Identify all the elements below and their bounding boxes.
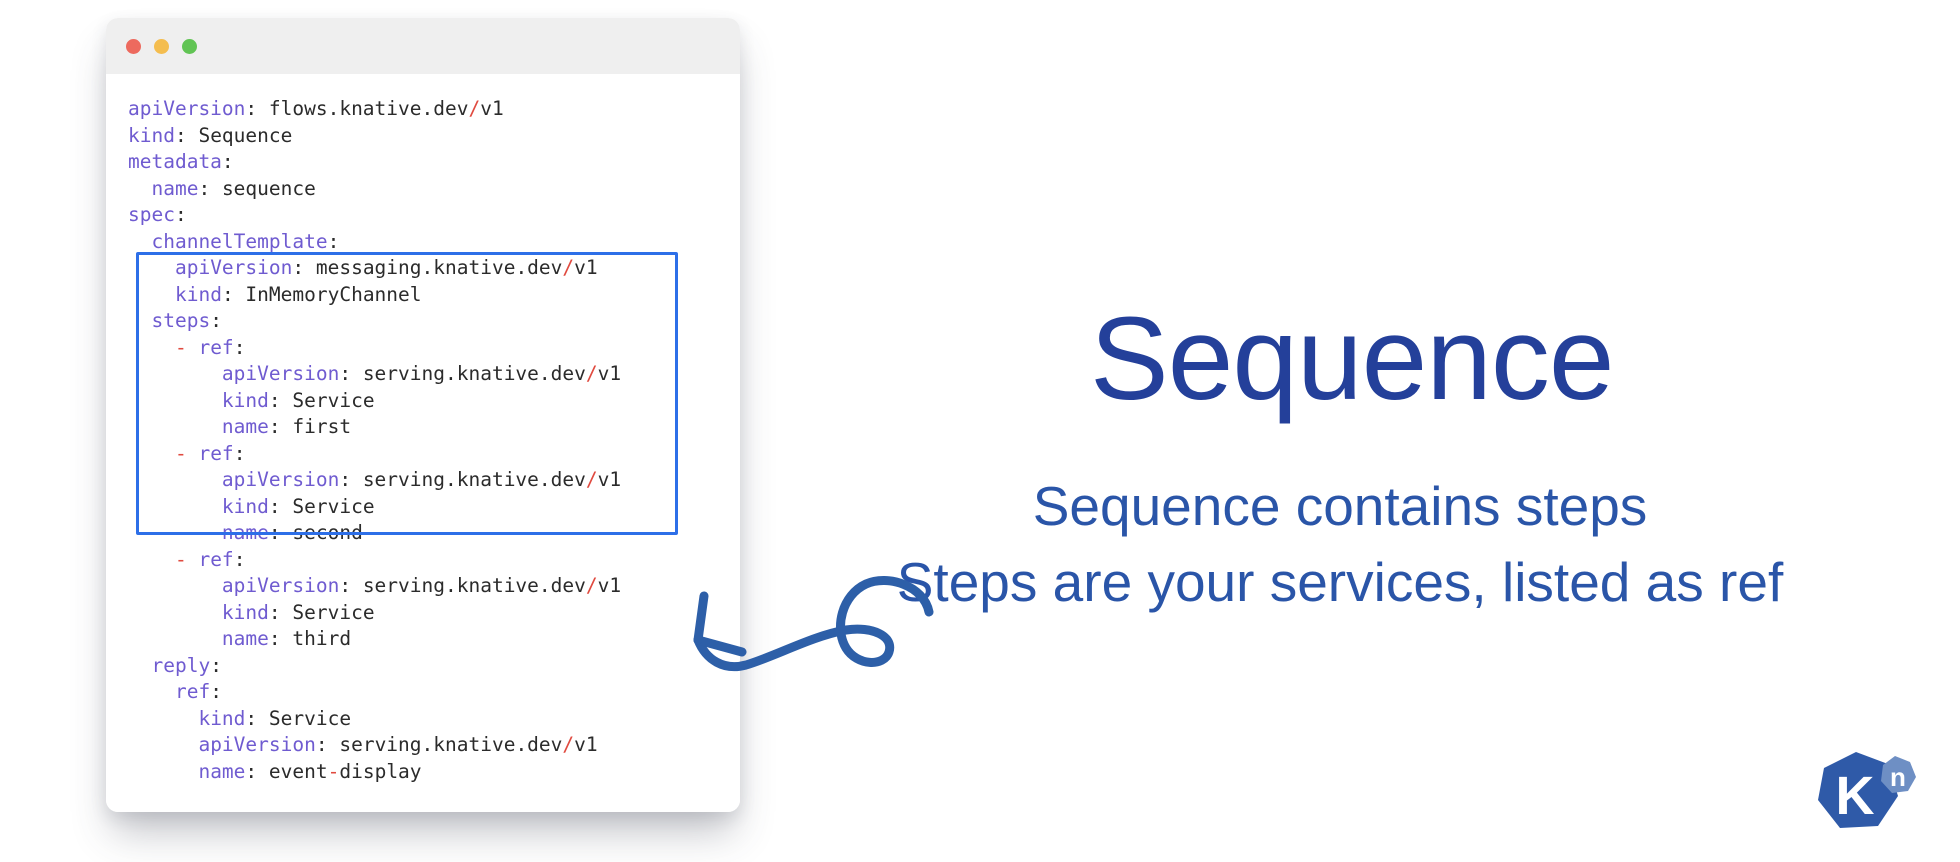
code-line: - ref: <box>128 441 740 468</box>
knative-k-letter: K <box>1836 766 1875 826</box>
page-title: Sequence <box>1090 300 1590 418</box>
code-line: metadata: <box>128 149 740 176</box>
code-line: apiVersion: messaging.knative.dev/v1 <box>128 255 740 282</box>
code-line: channelTemplate: <box>128 229 740 256</box>
code-line: ref: <box>128 679 740 706</box>
yaml-code-block[interactable]: apiVersion: flows.knative.dev/v1kind: Se… <box>106 96 740 785</box>
minimize-button[interactable] <box>154 39 169 54</box>
close-button[interactable] <box>126 39 141 54</box>
code-line: kind: Service <box>128 494 740 521</box>
code-line: reply: <box>128 653 740 680</box>
code-line: name: first <box>128 414 740 441</box>
subtitle-line-1: Sequence contains steps <box>880 468 1800 544</box>
code-line: kind: Service <box>128 706 740 733</box>
code-line: kind: InMemoryChannel <box>128 282 740 309</box>
code-line: name: second <box>128 520 740 547</box>
code-line: apiVersion: serving.knative.dev/v1 <box>128 361 740 388</box>
knative-n-letter: n <box>1890 762 1906 792</box>
subtitle-line-2: Steps are your services, listed as ref <box>880 544 1800 620</box>
code-line: name: sequence <box>128 176 740 203</box>
code-line: kind: Service <box>128 388 740 415</box>
subtitle-block: Sequence contains steps Steps are your s… <box>880 468 1800 620</box>
maximize-button[interactable] <box>182 39 197 54</box>
code-line: apiVersion: flows.knative.dev/v1 <box>128 96 740 123</box>
knative-logo-icon: K n <box>1812 748 1922 843</box>
code-line: apiVersion: serving.knative.dev/v1 <box>128 467 740 494</box>
code-line: name: third <box>128 626 740 653</box>
code-line: - ref: <box>128 335 740 362</box>
window-title-bar <box>106 18 740 74</box>
code-line: steps: <box>128 308 740 335</box>
code-line: name: event-display <box>128 759 740 786</box>
code-line: kind: Sequence <box>128 123 740 150</box>
curved-arrow-icon <box>676 568 936 683</box>
code-line: spec: <box>128 202 740 229</box>
knative-logo: K n <box>1812 748 1922 843</box>
code-line: apiVersion: serving.knative.dev/v1 <box>128 732 740 759</box>
code-line: - ref: <box>128 547 740 574</box>
code-window: apiVersion: flows.knative.dev/v1kind: Se… <box>106 18 740 812</box>
code-body: apiVersion: flows.knative.dev/v1kind: Se… <box>106 74 740 812</box>
annotation-arrow <box>676 568 936 683</box>
code-line: apiVersion: serving.knative.dev/v1 <box>128 573 740 600</box>
code-line: kind: Service <box>128 600 740 627</box>
